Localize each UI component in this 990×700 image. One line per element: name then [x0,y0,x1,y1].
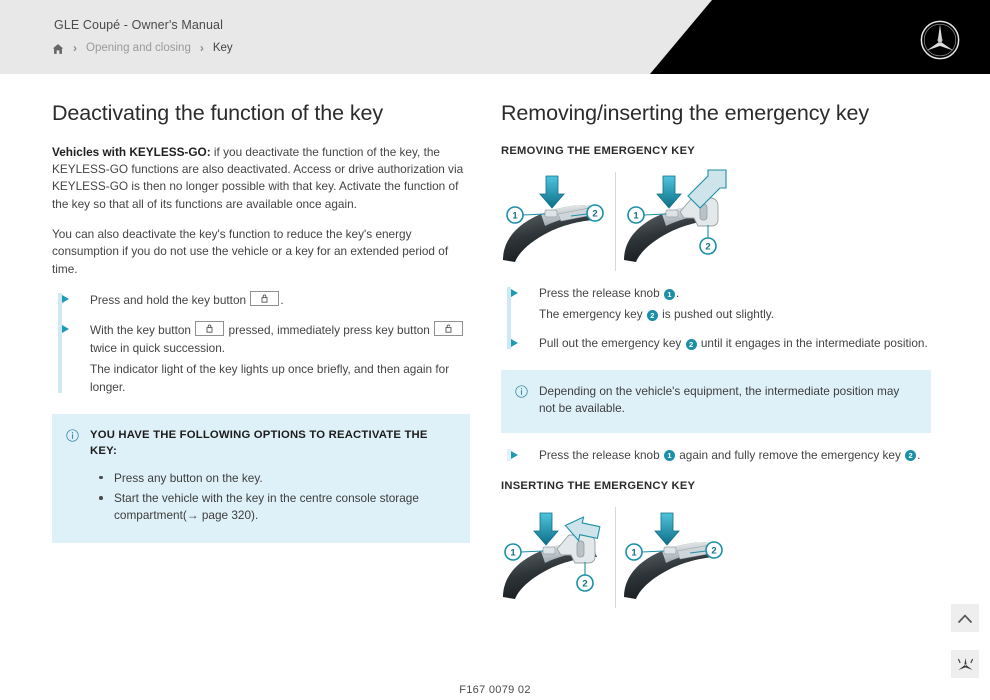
step-2: With the key button pressed, immediately… [90,321,470,397]
manual-page: Deactivating the function of the key Veh… [0,74,990,700]
info-box-heading: YOU HAVE THE FOLLOWING OPTIONS TO REACTI… [90,427,454,459]
page-title-right: Removing/inserting the emergency key [501,101,931,127]
result-post: is pushed out slightly. [659,307,774,321]
breadcrumb-item-opening-and-closing[interactable]: Opening and closing [86,42,191,54]
removing-step-2-post: until it engages in the intermediate pos… [698,336,928,350]
intro-paragraph: Vehicles with KEYLESS-GO: if you deactiv… [52,144,470,213]
removing-step-1-post: . [676,286,679,300]
breadcrumb-separator-2: › [198,42,206,54]
callout-badge-2: 2 [686,339,697,350]
triangle-bullet-icon [511,451,518,459]
document-title: GLE Coupé - Owner's Manual [54,18,223,32]
step-2-text-pre: With the key button [90,323,194,337]
info-box-text: Depending on the vehicle's equipment, th… [539,383,915,418]
final-step-post: . [917,448,920,462]
lock-closed-icon [195,321,224,336]
step-2-text-post: twice in quick succession. [90,341,225,355]
scroll-to-top-button[interactable] [951,604,979,632]
brand-shortcut-button[interactable] [951,650,979,678]
removing-steps-list: Press the release knob 1. The emergency … [501,285,931,353]
removing-step-3: Press the release knob 1 again and fully… [539,447,931,465]
svg-text:2: 2 [705,242,710,253]
info-circle-icon [515,385,528,398]
callout-badge-2: 2 [905,450,916,461]
lock-closed-icon [250,291,279,306]
final-step-mid: again and fully remove the emergency key [676,448,904,462]
breadcrumb-separator-1: › [71,42,79,54]
svg-text:2: 2 [711,546,716,557]
mercedes-benz-small-icon [957,657,974,672]
triangle-bullet-icon [62,325,69,333]
paragraph-2: You can also deactivate the key's functi… [52,226,470,278]
page-title-left: Deactivating the function of the key [52,101,470,127]
removing-step-2: Pull out the emergency key 2 until it en… [539,335,931,353]
mercedes-benz-star-icon [919,19,961,61]
breadcrumb-item-key[interactable]: Key [213,42,233,54]
steps-accent-rail [58,293,62,393]
info-box-bullet-list: Press any button on the key. Start the v… [90,470,454,525]
step-2-text-mid: pressed, immediately press key button [225,323,433,337]
triangle-bullet-icon [62,295,69,303]
figure-inserting-emergency-key: 1 2 1 [501,503,931,612]
right-column: Removing/inserting the emergency key REM… [501,74,931,622]
callout-badge-1: 1 [664,289,675,300]
removing-step-1-result: The emergency key 2 is pushed out slight… [539,306,931,324]
step-1-text-post: . [280,293,283,307]
svg-text:2: 2 [592,209,597,220]
removing-step-1-pre: Press the release knob [539,286,663,300]
section-heading-inserting: INSERTING THE EMERGENCY KEY [501,479,931,494]
reactivate-info-box: YOU HAVE THE FOLLOWING OPTIONS TO REACTI… [52,414,470,543]
final-step-list: Press the release knob 1 again and fully… [501,447,931,465]
lock-open-icon [434,321,463,336]
list-item[interactable]: Start the vehicle with the key in the ce… [114,490,454,525]
removing-step-2-pre: Pull out the emergency key [539,336,685,350]
list-item: Press any button on the key. [114,470,454,487]
step-2-result-text: The indicator light of the key lights up… [90,361,470,397]
triangle-bullet-icon [511,339,518,347]
figure-removing-panel-a: 1 2 [501,168,609,275]
step-1-text-pre: Press and hold the key button [90,293,249,307]
result-pre: The emergency key [539,307,646,321]
figure-removing-panel-b: 1 2 [622,168,732,275]
figure-inserting-panel-a: 1 2 [501,503,609,612]
callout-badge-1: 1 [664,450,675,461]
intermediate-position-info-box: Depending on the vehicle's equipment, th… [501,370,931,433]
figure-inserting-panel-b: 1 2 [622,503,730,612]
svg-text:1: 1 [510,548,516,559]
figure-divider [615,507,616,608]
info-box-body: Depending on the vehicle's equipment, th… [539,383,915,418]
removing-step-1: Press the release knob 1. The emergency … [539,285,931,324]
triangle-bullet-icon [511,289,518,297]
left-column: Deactivating the function of the key Veh… [52,74,470,543]
svg-text:1: 1 [631,548,637,559]
svg-text:2: 2 [582,579,587,590]
callout-badge-2: 2 [647,310,658,321]
app-header: GLE Coupé - Owner's Manual › Opening and… [0,0,990,74]
breadcrumb: › Opening and closing › Key [52,41,233,55]
figure-removing-emergency-key: 1 2 [501,168,931,275]
svg-text:1: 1 [512,211,518,222]
section-heading-removing: REMOVING THE EMERGENCY KEY [501,144,931,159]
page-code-footer: F167 0079 02 [0,684,990,696]
final-step-pre: Press the release knob [539,448,663,462]
info-circle-icon [66,429,79,442]
svg-text:1: 1 [633,211,639,222]
intro-bold-lead: Vehicles with KEYLESS-GO: [52,145,211,159]
deactivate-steps-list: Press and hold the key button . With the… [52,291,470,397]
info-box-body: YOU HAVE THE FOLLOWING OPTIONS TO REACTI… [90,427,454,528]
step-1: Press and hold the key button . [90,291,470,310]
figure-divider [615,172,616,271]
chevron-up-icon [958,614,972,623]
home-icon[interactable] [52,43,64,55]
